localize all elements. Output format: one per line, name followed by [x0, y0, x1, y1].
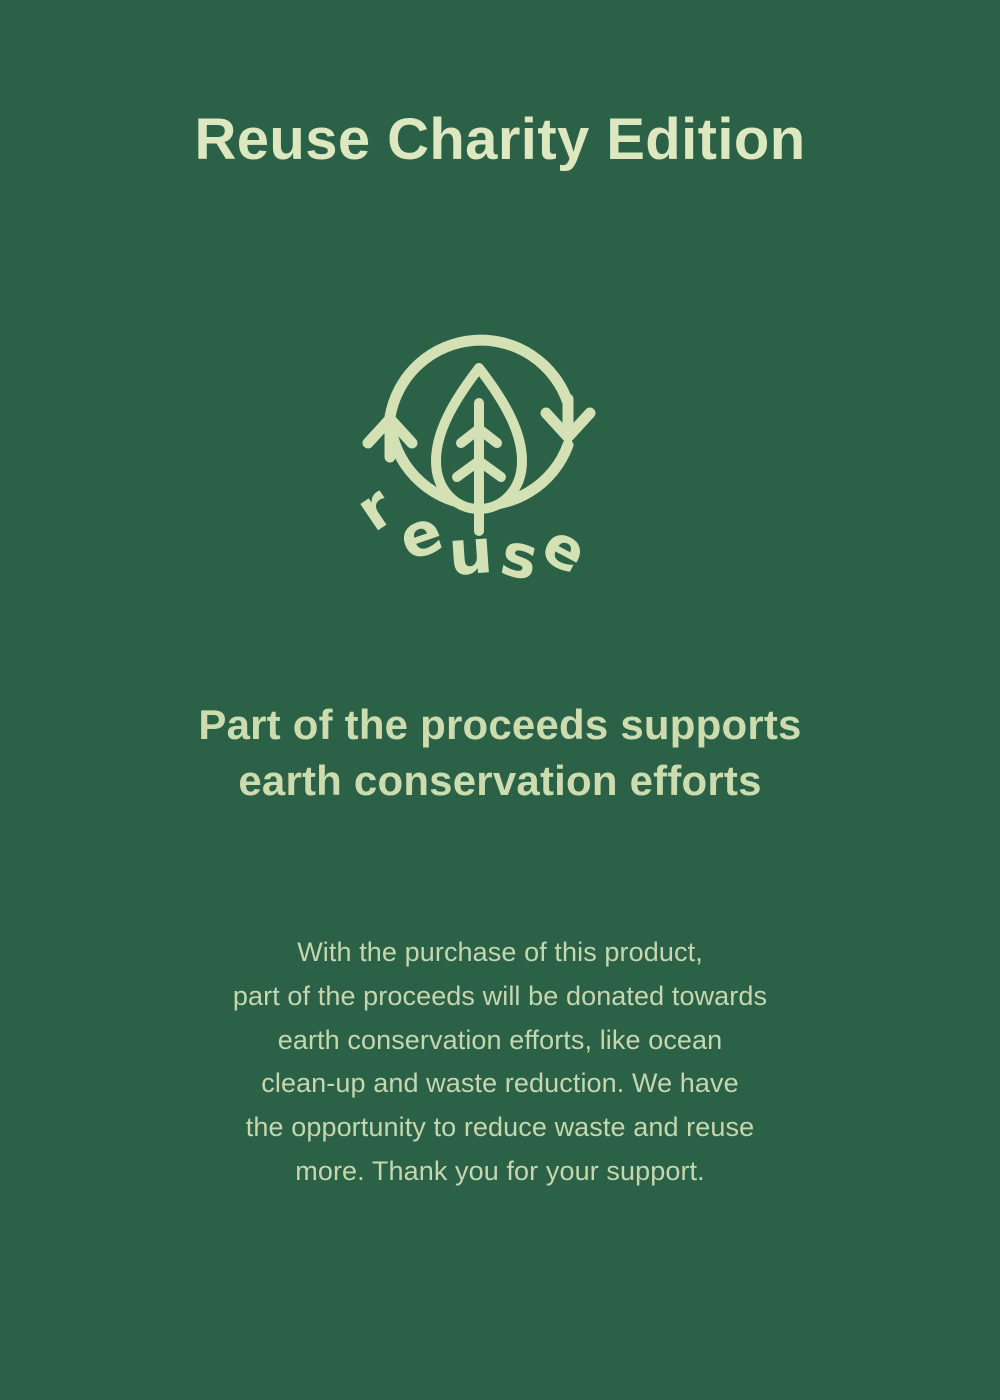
wordmark-letter-e2: e: [531, 509, 598, 588]
body-line: With the purchase of this product,: [160, 931, 840, 975]
arrow-down-icon: [546, 399, 590, 437]
charity-edition-page: Reuse Charity Edition: [0, 0, 1000, 1400]
body-line: earth conservation efforts, like ocean: [160, 1019, 840, 1063]
headline-line: conservation efforts: [354, 757, 762, 804]
headline-line: Part of the proceeds: [198, 701, 608, 748]
wordmark-letter-e: e: [390, 495, 451, 574]
headline: Part of the proceeds supports earth cons…: [180, 697, 820, 809]
arrow-up-icon: [368, 419, 412, 457]
reuse-logo: r e u s e: [360, 321, 640, 601]
page-title: Reuse Charity Edition: [194, 108, 805, 172]
body-line: the opportunity to reduce waste and reus…: [160, 1106, 840, 1150]
body-line: more. Thank you for your support.: [160, 1150, 840, 1194]
body-copy: With the purchase of this product, part …: [160, 931, 840, 1193]
wordmark-letter-u: u: [446, 514, 495, 590]
reuse-logo-svg: r e u s e: [360, 321, 640, 601]
body-line: clean-up and waste reduction. We have: [160, 1062, 840, 1106]
body-line: part of the proceeds will be donated tow…: [160, 975, 840, 1019]
